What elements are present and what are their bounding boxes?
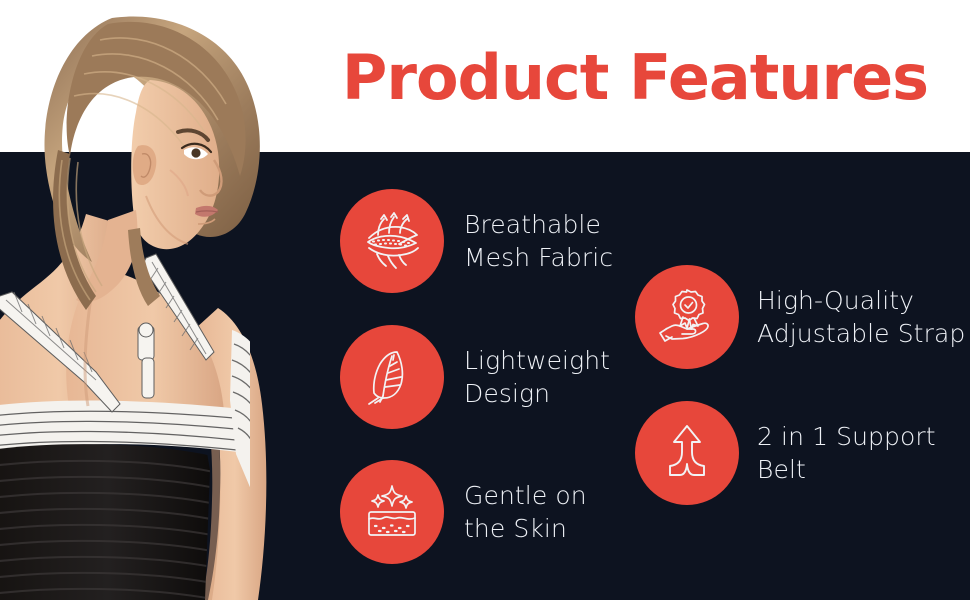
smooth-skin-sparkle-icon [340,460,444,564]
merge-up-arrow-icon [635,401,739,505]
feature-label: Gentle on the Skin [464,479,587,545]
hand-holding-quality-badge-icon [635,265,739,369]
breathable-airflow-icon [340,189,444,293]
feature-breathable-mesh-fabric[interactable]: Breathable Mesh Fabric [340,189,613,293]
product-features-infographic: Product Features Breathable Mesh Fabric [0,0,970,600]
feature-high-quality-adjustable-strap[interactable]: High-Quality Adjustable Strap [635,265,965,369]
feature-label: High-Quality Adjustable Strap [757,284,965,350]
feature-lightweight-design[interactable]: Lightweight Design [340,325,610,429]
feature-label: Lightweight Design [464,344,610,410]
feature-gentle-on-the-skin[interactable]: Gentle on the Skin [340,460,587,564]
feather-icon [340,325,444,429]
page-title: Product Features [300,36,970,120]
feature-2-in-1-support-belt[interactable]: 2 in 1 Support Belt [635,401,936,505]
feature-label: 2 in 1 Support Belt [757,420,936,486]
feature-label: Breathable Mesh Fabric [464,208,613,274]
hero-product-photo [0,0,300,600]
